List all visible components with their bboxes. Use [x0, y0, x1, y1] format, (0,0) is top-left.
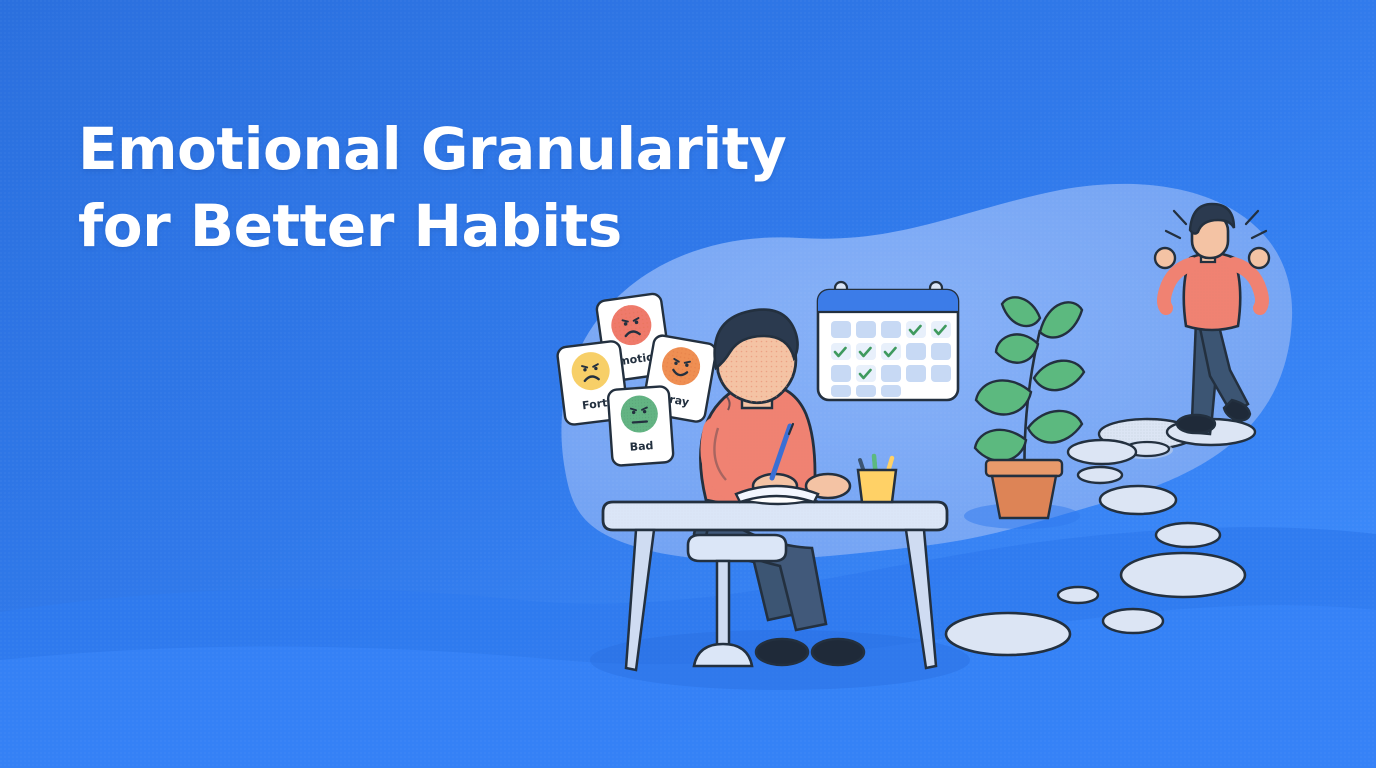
stone: [1058, 587, 1098, 603]
stone: [1068, 440, 1136, 464]
pot-rim: [986, 460, 1062, 476]
page-title-line-2: for Better Habits: [78, 188, 858, 265]
stone: [946, 613, 1070, 655]
stone: [1100, 486, 1176, 514]
fist-right: [1249, 248, 1269, 268]
potted-plant: [964, 297, 1084, 529]
emotion-card-bad[interactable]: Bad: [608, 386, 674, 466]
cup: [858, 470, 896, 502]
stone: [1103, 609, 1163, 633]
page-title-line-1: Emotional Granularity: [78, 111, 858, 188]
stone: [1121, 553, 1245, 597]
stool-seat: [688, 535, 786, 561]
fist-left: [1155, 248, 1175, 268]
page-title: Emotional Granularity for Better Habits: [78, 111, 858, 265]
banner: Emotional Granularity for Better Habits: [0, 0, 1376, 768]
shoe: [812, 639, 864, 665]
emotion-card-label: Bad: [629, 439, 654, 454]
shoe: [756, 639, 808, 665]
pot-body: [992, 476, 1056, 518]
stool-post: [717, 561, 729, 647]
habit-tracker-calendar[interactable]: [818, 282, 958, 400]
stone: [1156, 523, 1220, 547]
pencil-cup: [858, 456, 896, 502]
stone: [1078, 467, 1122, 483]
calendar-header: [818, 290, 958, 312]
person-celebrating: [1155, 204, 1269, 445]
shoe: [1177, 415, 1215, 433]
